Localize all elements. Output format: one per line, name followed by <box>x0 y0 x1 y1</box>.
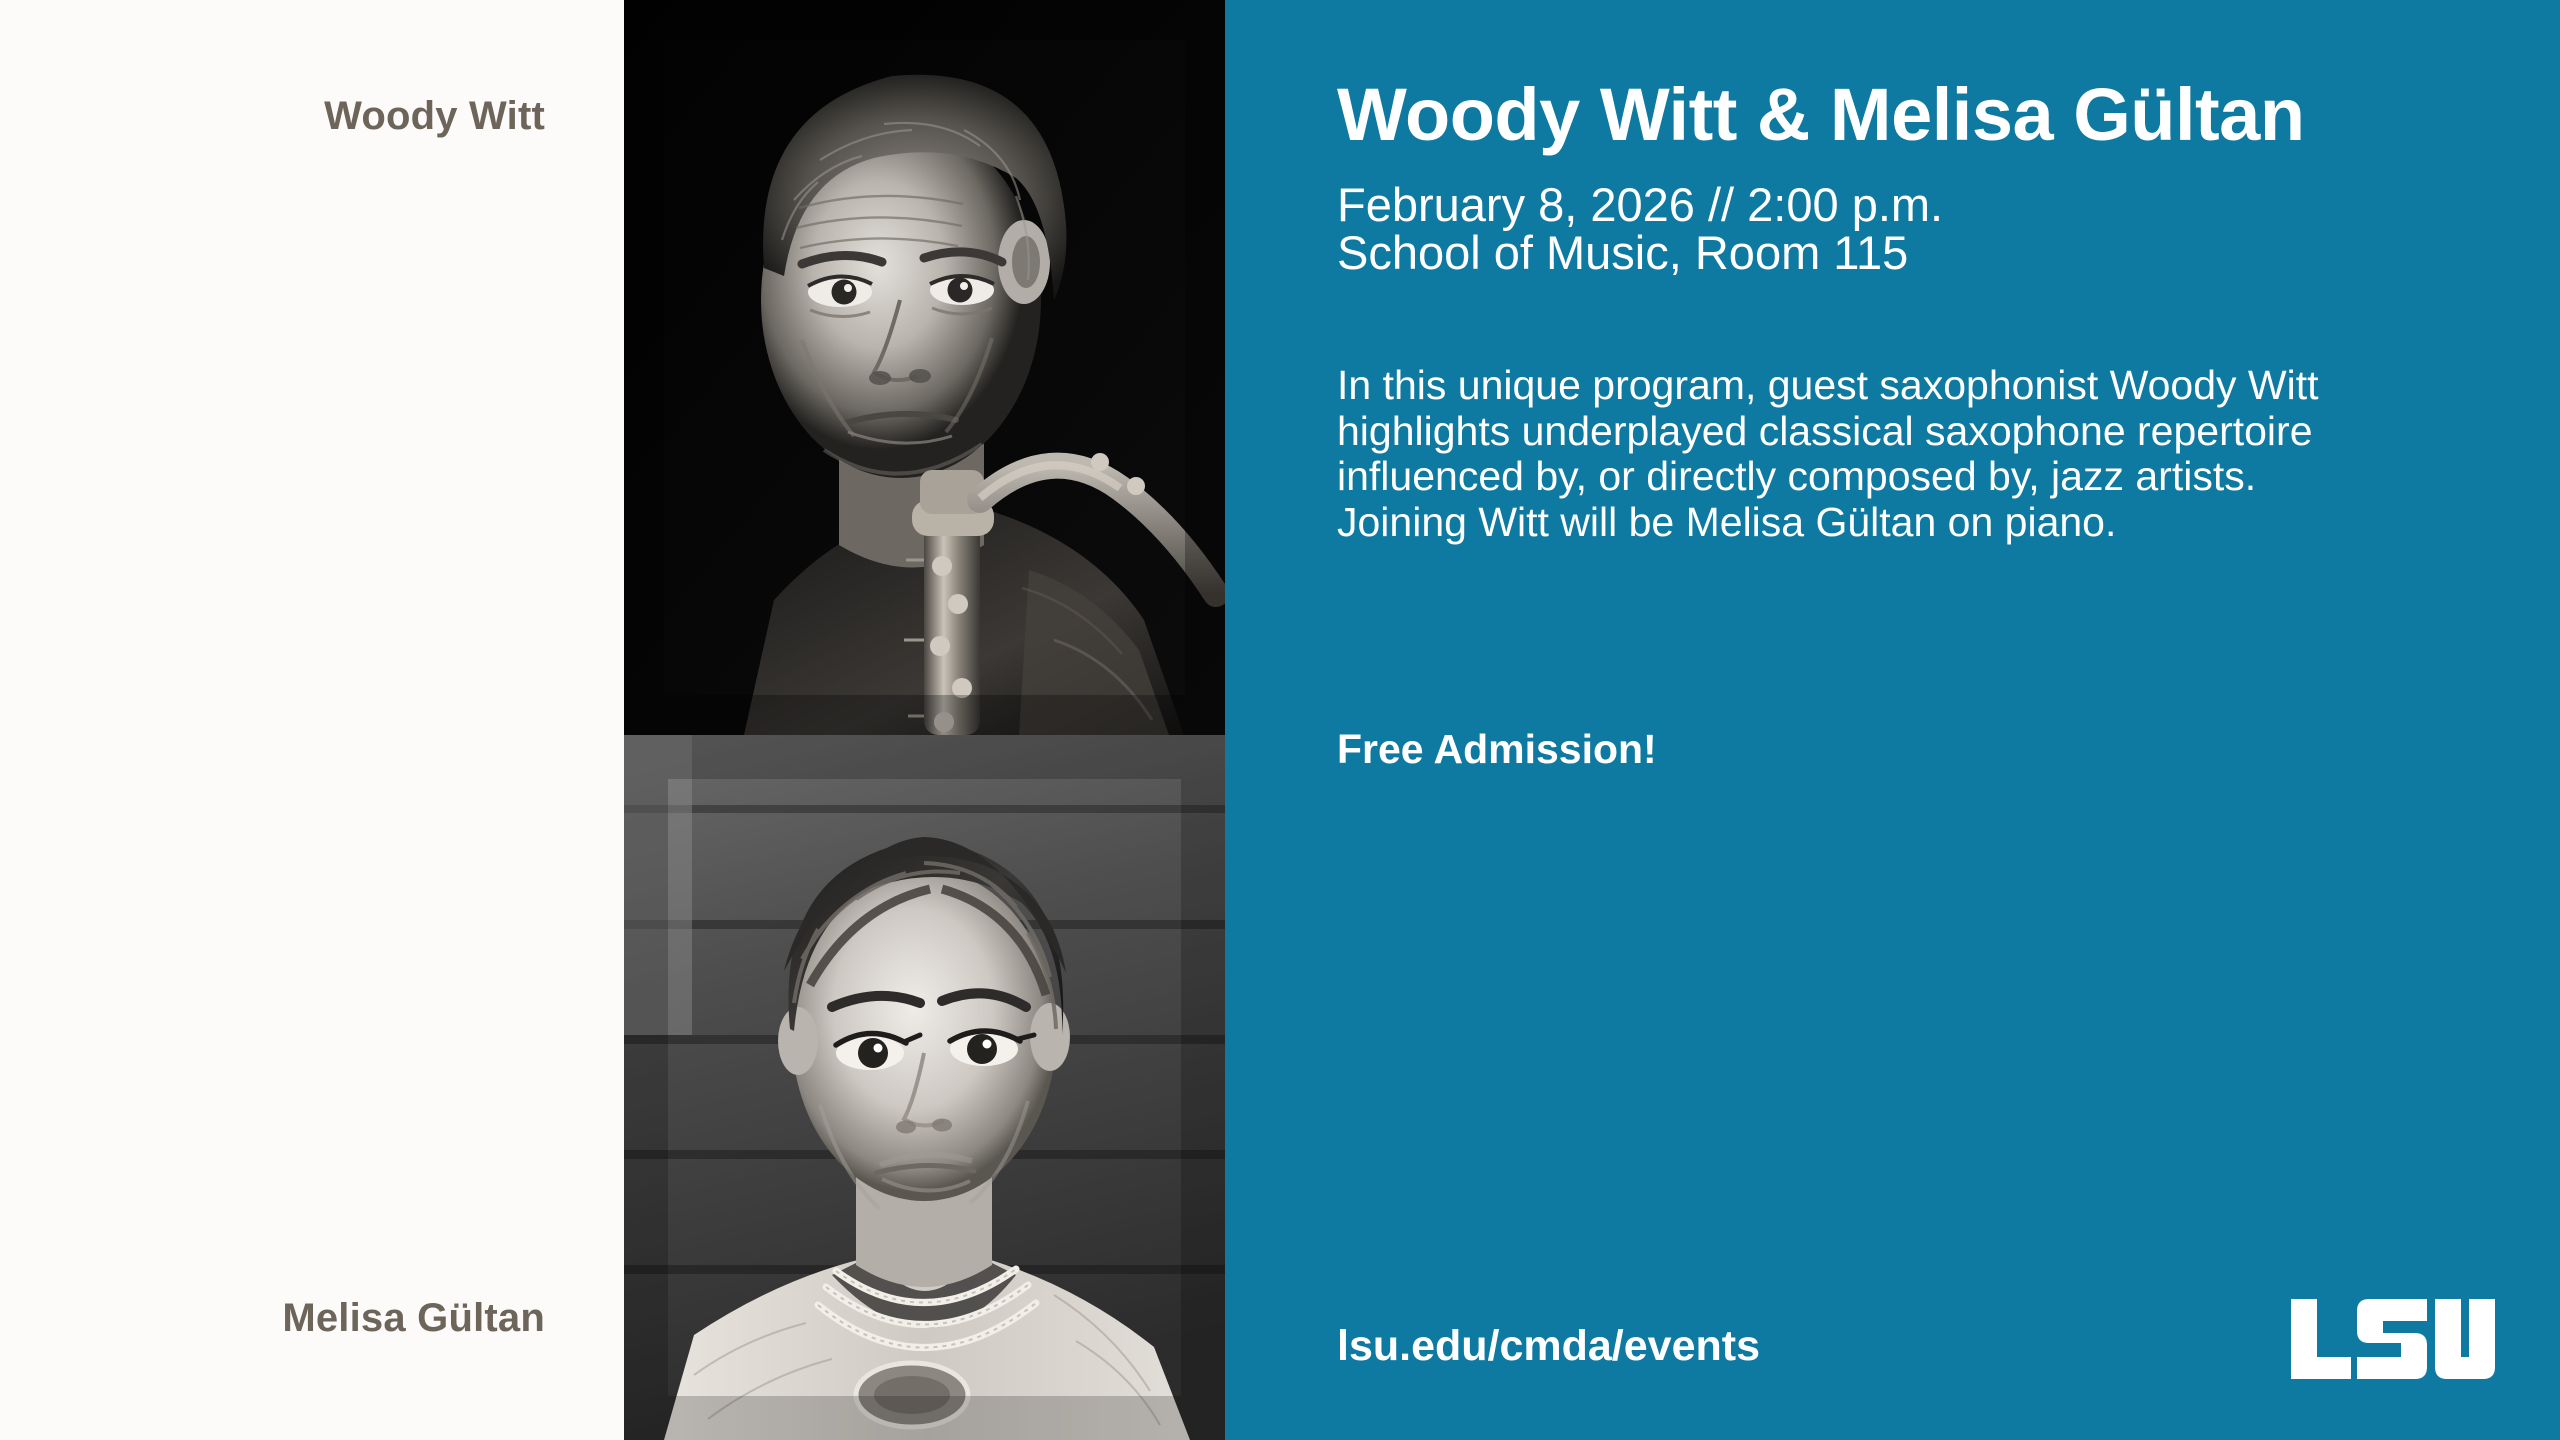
portrait-photo-woody-witt <box>624 0 1225 735</box>
event-description: In this unique program, guest saxophonis… <box>1337 363 2367 545</box>
credit-label-melisa-gultan: Melisa Gültan <box>25 1296 545 1340</box>
event-location: School of Music, Room 115 <box>1337 229 2517 277</box>
portrait-photo-melisa-gultan <box>624 735 1225 1440</box>
event-poster: Woody Witt Melisa Gültan <box>0 0 2560 1440</box>
events-url-link[interactable]: lsu.edu/cmda/events <box>1337 1322 1760 1371</box>
lsu-logo <box>2289 1297 2497 1381</box>
credits-column: Woody Witt Melisa Gültan <box>0 0 624 1440</box>
credit-label-woody-witt: Woody Witt <box>25 94 545 138</box>
portrait-column <box>624 0 1225 1440</box>
event-info-panel: Woody Witt & Melisa Gültan February 8, 2… <box>1225 0 2560 1440</box>
event-when-where: February 8, 2026 // 2:00 p.m. School of … <box>1337 181 2517 277</box>
event-date-time: February 8, 2026 // 2:00 p.m. <box>1337 181 2517 229</box>
event-title: Woody Witt & Melisa Gültan <box>1337 76 2517 154</box>
free-admission-note: Free Admission! <box>1337 726 1657 773</box>
